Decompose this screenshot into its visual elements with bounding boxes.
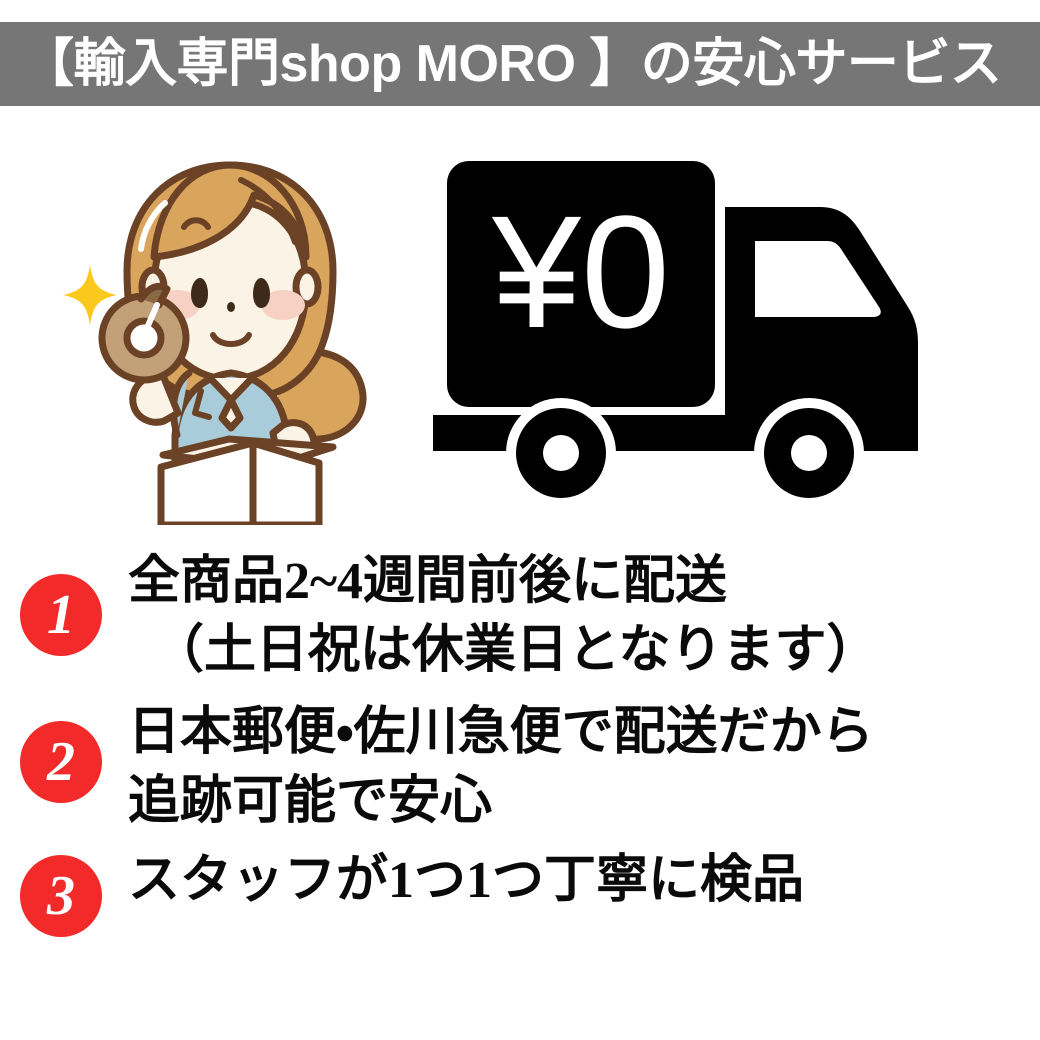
service-list: 1 全商品2~4週間前後に配送 （土日祝は休業日となります） 2 日本郵便・佐川…	[0, 548, 1040, 937]
list-item: 2 日本郵便・佐川急便で配送だから 追跡可能で安心	[0, 699, 1040, 836]
truck-cargo-label: ¥0	[491, 182, 670, 361]
illustration-row: ¥0	[0, 110, 1040, 540]
list-item: 1 全商品2~4週間前後に配送 （土日祝は休業日となります）	[0, 548, 1040, 685]
service-text-2: 日本郵便・佐川急便で配送だから 追跡可能で安心	[128, 699, 874, 836]
service-text-1: 全商品2~4週間前後に配送 （土日祝は休業日となります）	[128, 548, 878, 685]
service-line: 日本郵便・佐川急便で配送だから	[128, 699, 874, 768]
service-line: 追跡可能で安心	[128, 768, 874, 837]
badge-number-2: 2	[20, 721, 102, 803]
shipping-service-infographic: 【輸入専門shop MORO 】の安心サービス	[0, 0, 1040, 1040]
page-title: 【輸入専門shop MORO 】の安心サービス	[22, 38, 1001, 90]
sparkle-icon	[63, 265, 117, 325]
badge-number-3: 3	[20, 855, 102, 937]
service-line: （土日祝は休業日となります）	[128, 617, 878, 686]
header-banner: 【輸入専門shop MORO 】の安心サービス	[0, 22, 1040, 106]
service-line: スタッフが1つ1つ丁寧に検品	[128, 847, 804, 916]
badge-number-1: 1	[20, 574, 102, 656]
service-line: 全商品2~4週間前後に配送	[128, 548, 878, 617]
woman-packing-box-illustration	[45, 135, 415, 525]
delivery-truck-illustration: ¥0	[425, 145, 1005, 515]
service-text-3: スタッフが1つ1つ丁寧に検品	[128, 847, 804, 916]
list-item: 3 スタッフが1つ1つ丁寧に検品	[0, 847, 1040, 937]
